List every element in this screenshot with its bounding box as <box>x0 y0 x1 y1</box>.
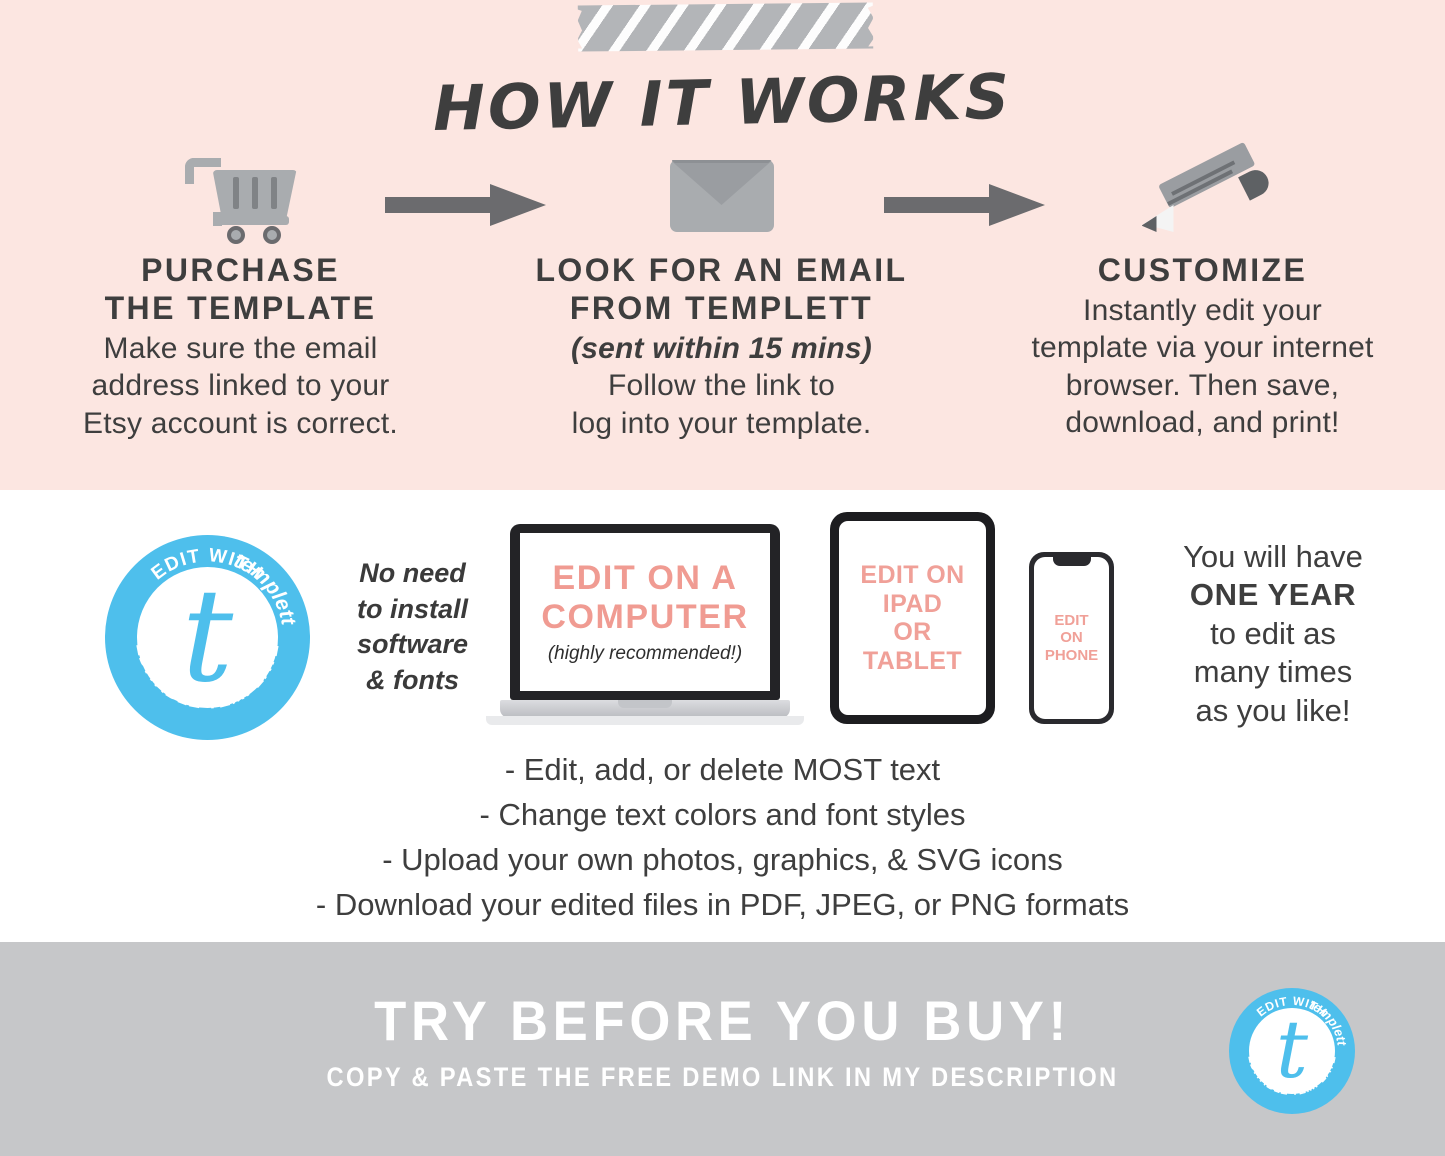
step-heading-line2: FROM TEMPLETT <box>481 290 962 328</box>
tablet-screen-text: EDIT ON IPAD OR TABLET <box>860 561 964 675</box>
one-year-bold: ONE YEAR <box>1128 576 1418 614</box>
steps-row: PURCHASE THE TEMPLATE Make sure the emai… <box>0 140 1445 442</box>
laptop-lid: EDIT ON A COMPUTER (highly recommended!) <box>510 524 780 700</box>
laptop-foot <box>486 716 804 725</box>
tablet-device: EDIT ON IPAD OR TABLET <box>830 512 995 724</box>
phone-frame: EDIT ON PHONE <box>1029 552 1114 724</box>
phone-screen-line2: ON <box>1045 629 1098 646</box>
banner-subline: COPY & PASTE THE FREE DEMO LINK IN MY DE… <box>87 1062 1359 1093</box>
one-year-note: You will have ONE YEAR to edit as many t… <box>1128 538 1418 730</box>
step-body-line3: browser. Then save, <box>962 367 1443 405</box>
templett-badge-small: EDIT WITH templett EDITABLE TEMPLATE t <box>1229 988 1355 1114</box>
feature-bullet-list: - Edit, add, or delete MOST text - Chang… <box>0 748 1445 928</box>
step-heading-line2: THE TEMPLATE <box>0 290 481 328</box>
how-it-works-section: HOW IT WORKS <box>0 0 1445 490</box>
list-item: - Edit, add, or delete MOST text <box>0 748 1445 793</box>
washi-tape-decoration <box>578 2 873 51</box>
one-year-line2: to edit as <box>1128 615 1418 653</box>
phone-notch <box>1053 557 1091 566</box>
step-heading-line1: LOOK FOR AN EMAIL <box>481 252 962 290</box>
step-body-line2: template via your internet <box>962 329 1443 367</box>
banner-headline: TRY BEFORE YOU BUY! <box>43 988 1401 1053</box>
laptop-screen-title: EDIT ON A COMPUTER <box>541 559 748 635</box>
shopping-cart-icon <box>0 140 481 252</box>
step-body-line1: Instantly edit your <box>962 292 1443 330</box>
step-purchase: PURCHASE THE TEMPLATE Make sure the emai… <box>0 140 481 442</box>
step-body-line2: log into your template. <box>481 405 962 443</box>
list-item: - Download your edited files in PDF, JPE… <box>0 883 1445 928</box>
step-look-for-email: LOOK FOR AN EMAIL FROM TEMPLETT (sent wi… <box>481 140 962 442</box>
one-year-line4: as you like! <box>1128 692 1418 730</box>
badge-letter-t: t <box>1229 1009 1355 1091</box>
tablet-screen: EDIT ON IPAD OR TABLET <box>839 521 986 715</box>
step-heading: LOOK FOR AN EMAIL FROM TEMPLETT <box>481 252 962 328</box>
tablet-screen-line2: IPAD <box>860 590 964 619</box>
step-heading-line1: PURCHASE <box>0 252 481 290</box>
step-body-line2: address linked to your <box>0 367 481 405</box>
step-heading: PURCHASE THE TEMPLATE <box>0 252 481 328</box>
step-body: Make sure the email address linked to yo… <box>0 330 481 443</box>
step-body: Instantly edit your template via your in… <box>962 292 1443 442</box>
step-body-line4: download, and print! <box>962 404 1443 442</box>
laptop-device: EDIT ON A COMPUTER (highly recommended!) <box>500 524 790 732</box>
laptop-trackpad-notch <box>618 700 672 708</box>
phone-screen: EDIT ON PHONE <box>1034 557 1109 719</box>
list-item: - Change text colors and font styles <box>0 793 1445 838</box>
phone-device: EDIT ON PHONE <box>1029 552 1114 724</box>
pencil-icon <box>962 140 1443 252</box>
no-install-note: No need to install software & fonts <box>330 556 495 699</box>
envelope-icon <box>481 140 962 252</box>
one-year-line1: You will have <box>1128 538 1418 576</box>
step-body-line3: Etsy account is correct. <box>0 405 481 443</box>
step-heading-line1: CUSTOMIZE <box>962 252 1443 290</box>
laptop-screen-sub: (highly recommended!) <box>548 643 742 665</box>
tablet-frame: EDIT ON IPAD OR TABLET <box>830 512 995 724</box>
step-body-line1: Make sure the email <box>0 330 481 368</box>
page-title: HOW IT WORKS <box>0 51 1445 154</box>
tablet-screen-line1: EDIT ON <box>860 561 964 590</box>
phone-screen-line1: EDIT <box>1045 612 1098 629</box>
how-it-works-infographic: HOW IT WORKS <box>0 0 1445 1156</box>
step-body-italic: (sent within 15 mins) <box>481 330 962 368</box>
laptop-screen: EDIT ON A COMPUTER (highly recommended!) <box>520 533 770 691</box>
step-body: (sent within 15 mins) Follow the link to… <box>481 330 962 443</box>
templett-badge: EDIT WITH templett EDITABLE TEMPLATE t <box>105 535 310 740</box>
phone-screen-line3: PHONE <box>1045 647 1098 664</box>
laptop-screen-line1: EDIT ON A <box>541 559 748 597</box>
laptop-screen-line2: COMPUTER <box>541 598 748 636</box>
badge-letter-t: t <box>105 572 310 702</box>
phone-screen-text: EDIT ON PHONE <box>1045 612 1098 663</box>
tablet-screen-line4: TABLET <box>860 647 964 676</box>
list-item: - Upload your own photos, graphics, & SV… <box>0 838 1445 883</box>
step-heading: CUSTOMIZE <box>962 252 1443 290</box>
tablet-screen-line3: OR <box>860 618 964 647</box>
one-year-line3: many times <box>1128 653 1418 691</box>
no-install-line3: software <box>330 627 495 663</box>
no-install-line1: No need <box>330 556 495 592</box>
no-install-line2: to install <box>330 592 495 628</box>
step-body-line1: Follow the link to <box>481 367 962 405</box>
no-install-line4: & fonts <box>330 663 495 699</box>
step-customize: CUSTOMIZE Instantly edit your template v… <box>962 140 1443 442</box>
